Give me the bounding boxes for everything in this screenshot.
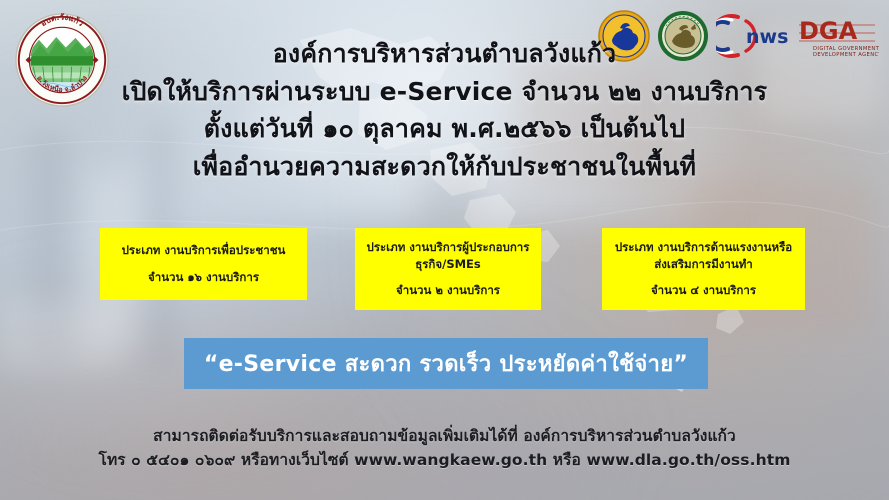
category-count-label: จำนวน ๒ งานบริการ — [361, 282, 535, 299]
footer-line-1: สามารถติดต่อรับบริการและสอบถามข้อมูลเพิ่… — [0, 424, 889, 448]
category-count-label: จำนวน ๔ งานบริการ — [608, 282, 799, 299]
category-type-label: ประเภท งานบริการด้านแรงงานหรือส่งเสริมกา… — [608, 239, 799, 274]
poster-canvas: อบต.วังแก้ว อ.วังเหนือ จ.ลำปาง — [0, 0, 889, 500]
category-box-citizens: ประเภท งานบริการเพื่อประชาชน จำนวน ๑๖ งา… — [100, 228, 307, 300]
slogan-text: “e-Service สะดวก รวดเร็ว ประหยัดค่าใช้จ่… — [204, 346, 688, 381]
dla-department-emblem-icon — [657, 10, 709, 62]
partner-logo-row: nws DGA DIGITAL GOVERNMENT DEVELOPMENT A… — [598, 10, 879, 62]
dga-logo-label: DGA — [799, 17, 858, 45]
dga-logo-icon: DGA DIGITAL GOVERNMENT DEVELOPMENT AGENC… — [797, 11, 879, 61]
category-box-business-smes: ประเภท งานบริการผู้ประกอบการธุรกิจ/SMEs … — [355, 228, 541, 310]
footer-contact-block: สามารถติดต่อรับบริการและสอบถามข้อมูลเพิ่… — [0, 424, 889, 472]
ministry-of-interior-emblem-icon — [598, 10, 650, 62]
category-type-label: ประเภท งานบริการผู้ประกอบการธุรกิจ/SMEs — [361, 239, 535, 274]
category-count-label: จำนวน ๑๖ งานบริการ — [106, 269, 301, 286]
nws-logo-icon: nws — [716, 11, 790, 61]
category-box-labour-employment: ประเภท งานบริการด้านแรงงานหรือส่งเสริมกา… — [602, 228, 805, 310]
slogan-banner: “e-Service สะดวก รวดเร็ว ประหยัดค่าใช้จ่… — [184, 338, 708, 389]
footer-line-2: โทร ๐ ๕๔๐๑ ๐๖๐๙ หรือทางเว็บไซต์ www.wang… — [0, 448, 889, 472]
wangkaew-subdistrict-seal-icon: อบต.วังแก้ว อ.วังเหนือ จ.ลำปาง — [14, 12, 110, 108]
category-box-group: ประเภท งานบริการเพื่อประชาชน จำนวน ๑๖ งา… — [0, 228, 889, 312]
nws-logo-label: nws — [746, 26, 788, 48]
dga-logo-sub2: DEVELOPMENT AGENCY — [813, 52, 879, 58]
category-type-label: ประเภท งานบริการเพื่อประชาชน — [106, 242, 301, 259]
